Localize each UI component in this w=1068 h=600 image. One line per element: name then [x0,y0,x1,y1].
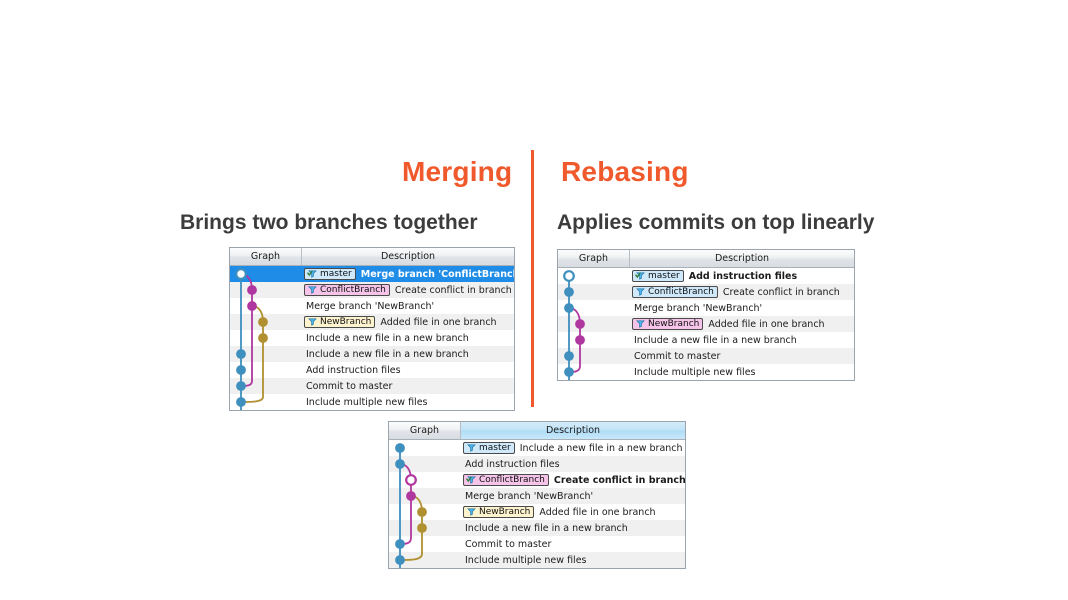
commit-message: Added file in one branch [378,317,496,328]
commit-row[interactable]: ConflictBranchCreate conflict in branch [230,282,514,298]
commit-description-cell: Include a new file in a new branch [302,330,514,346]
branch-icon [635,287,646,297]
commit-graph-cell [389,536,461,552]
commit-graph-cell [558,300,630,316]
commit-message: Create conflict in branch [552,475,685,486]
commit-message: Added file in one branch [706,319,824,330]
commit-graph-cell [558,268,630,284]
commit-graph-cell [389,440,461,456]
branch-checked-icon [466,475,477,485]
commit-message: Add instruction files [463,459,560,470]
column-header-graph[interactable]: Graph [558,250,630,267]
commit-message: Merge branch 'NewBranch' [304,301,434,312]
branch-label-master[interactable]: master [463,442,515,454]
commit-row[interactable]: Include a new file in a new branch [230,346,514,362]
merging-subtitle: Brings two branches together [180,211,478,235]
commit-row[interactable]: masterInclude a new file in a new branch [389,440,685,456]
branch-icon [635,319,646,329]
commit-row[interactable]: Commit to master [389,536,685,552]
table-header-row: Graph Description [230,248,514,266]
branch-label-text: master [648,272,680,281]
commit-row[interactable]: Include a new file in a new branch [230,330,514,346]
commit-row[interactable]: Merge branch 'NewBranch' [558,300,854,316]
rebasing-subtitle: Applies commits on top linearly [557,211,874,235]
commit-row[interactable]: ConflictBranchCreate conflict in branch [389,472,685,488]
commit-row[interactable]: Merge branch 'NewBranch' [230,298,514,314]
commit-message: Add instruction files [687,271,797,282]
merging-commit-table[interactable]: Graph Description masterMerge branch 'Co… [229,247,515,411]
commit-description-cell: Include a new file in a new branch [302,346,514,362]
branch-checked-icon [635,271,646,281]
commit-row[interactable]: NewBranchAdded file in one branch [230,314,514,330]
commit-message: Merge branch 'NewBranch' [632,303,762,314]
branch-label-text: NewBranch [320,318,371,327]
commit-row[interactable]: masterMerge branch 'ConflictBranch' [230,266,514,282]
merging-title: Merging [402,156,512,188]
table-body: masterAdd instruction filesConflictBranc… [558,268,854,380]
commit-row[interactable]: Include multiple new files [230,394,514,410]
branch-label-master[interactable]: master [632,270,684,282]
commit-message: Commit to master [463,539,551,550]
commit-message: Create conflict in branch [393,285,512,296]
commit-description-cell: NewBranchAdded file in one branch [630,316,854,332]
branch-label-conflictbranch[interactable]: ConflictBranch [463,474,549,486]
branch-icon [307,285,318,295]
commit-description-cell: masterInclude a new file in a new branch [461,440,685,456]
column-header-description[interactable]: Description [461,422,685,439]
commit-message: Include a new file in a new branch [518,443,683,454]
commit-graph-cell [230,346,302,362]
commit-graph-cell [230,330,302,346]
column-header-description[interactable]: Description [630,250,854,267]
commit-message: Added file in one branch [537,507,655,518]
commit-description-cell: Merge branch 'NewBranch' [302,298,514,314]
result-commit-table[interactable]: Graph Description masterInclude a new fi… [388,421,686,569]
commit-row[interactable]: Include multiple new files [389,552,685,568]
branch-label-conflictbranch[interactable]: ConflictBranch [304,284,390,296]
branch-label-master[interactable]: master [304,268,356,280]
commit-description-cell: Add instruction files [461,456,685,472]
commit-description-cell: Add instruction files [302,362,514,378]
commit-description-cell: Commit to master [302,378,514,394]
commit-message: Include multiple new files [304,397,428,408]
commit-row[interactable]: Include multiple new files [558,364,854,380]
table-body: masterMerge branch 'ConflictBranch'Confl… [230,266,514,410]
commit-row[interactable]: masterAdd instruction files [558,268,854,284]
commit-graph-cell [230,362,302,378]
commit-row[interactable]: Commit to master [558,348,854,364]
commit-message: Include multiple new files [463,555,587,566]
commit-message: Include a new file in a new branch [463,523,628,534]
commit-row[interactable]: NewBranchAdded file in one branch [558,316,854,332]
commit-graph-cell [389,488,461,504]
branch-label-text: NewBranch [479,508,530,517]
commit-description-cell: Commit to master [461,536,685,552]
commit-graph-cell [558,316,630,332]
commit-description-cell: Include a new file in a new branch [461,520,685,536]
branch-label-text: NewBranch [648,320,699,329]
commit-description-cell: ConflictBranchCreate conflict in branch [630,284,854,300]
commit-description-cell: Include multiple new files [302,394,514,410]
commit-graph-cell [389,504,461,520]
commit-graph-cell [230,282,302,298]
commit-graph-cell [558,364,630,380]
commit-description-cell: NewBranchAdded file in one branch [461,504,685,520]
commit-graph-cell [230,378,302,394]
commit-graph-cell [389,456,461,472]
commit-description-cell: Merge branch 'NewBranch' [461,488,685,504]
commit-message: Commit to master [632,351,720,362]
table-header-row: Graph Description [389,422,685,440]
commit-description-cell: Include a new file in a new branch [630,332,854,348]
commit-message: Merge branch 'NewBranch' [463,491,593,502]
commit-graph-cell [389,472,461,488]
commit-message: Commit to master [304,381,392,392]
commit-graph-cell [230,394,302,410]
commit-row[interactable]: Merge branch 'NewBranch' [389,488,685,504]
branch-label-text: ConflictBranch [320,286,386,295]
branch-label-conflictbranch[interactable]: ConflictBranch [632,286,718,298]
table-header-row: Graph Description [558,250,854,268]
branch-label-text: ConflictBranch [479,476,545,485]
branch-label-text: ConflictBranch [648,288,714,297]
commit-message: Include a new file in a new branch [632,335,797,346]
commit-graph-cell [558,284,630,300]
commit-description-cell: masterMerge branch 'ConflictBranch' [302,266,514,282]
commit-message: Add instruction files [304,365,401,376]
branch-icon [307,317,318,327]
commit-row[interactable]: ConflictBranchCreate conflict in branch [558,284,854,300]
commit-graph-cell [558,332,630,348]
commit-row[interactable]: Add instruction files [389,456,685,472]
slide-canvas: Merging Rebasing Brings two branches tog… [0,0,1068,600]
branch-label-newbranch[interactable]: NewBranch [463,506,534,518]
commit-graph-cell [389,552,461,568]
commit-row[interactable]: Include a new file in a new branch [389,520,685,536]
commit-graph-cell [230,298,302,314]
rebasing-commit-table[interactable]: Graph Description masterAdd instruction … [557,249,855,381]
commit-description-cell: masterAdd instruction files [630,268,854,284]
commit-row[interactable]: Commit to master [230,378,514,394]
commit-description-cell: ConflictBranchCreate conflict in branch [302,282,514,298]
table-body: masterInclude a new file in a new branch… [389,440,685,568]
branch-label-text: master [479,444,511,453]
commit-description-cell: Include multiple new files [461,552,685,568]
commit-description-cell: Include multiple new files [630,364,854,380]
commit-message: Include a new file in a new branch [304,349,469,360]
commit-row[interactable]: Include a new file in a new branch [558,332,854,348]
commit-row[interactable]: NewBranchAdded file in one branch [389,504,685,520]
branch-checked-icon [307,269,318,279]
commit-message: Include a new file in a new branch [304,333,469,344]
branch-icon [466,507,477,517]
commit-description-cell: Merge branch 'NewBranch' [630,300,854,316]
commit-description-cell: NewBranchAdded file in one branch [302,314,514,330]
column-header-description[interactable]: Description [302,248,514,265]
rebasing-title: Rebasing [561,156,689,188]
branch-label-text: master [320,270,352,279]
commit-row[interactable]: Add instruction files [230,362,514,378]
column-header-graph[interactable]: Graph [230,248,302,265]
commit-graph-cell [230,266,302,282]
commit-graph-cell [558,348,630,364]
commit-graph-cell [389,520,461,536]
column-header-graph[interactable]: Graph [389,422,461,439]
commit-description-cell: Commit to master [630,348,854,364]
commit-message: Create conflict in branch [721,287,840,298]
commit-graph-cell [230,314,302,330]
branch-icon [466,443,477,453]
commit-message: Include multiple new files [632,367,756,378]
vertical-divider [531,150,534,407]
commit-message: Merge branch 'ConflictBranch' [359,269,514,280]
branch-label-newbranch[interactable]: NewBranch [304,316,375,328]
branch-label-newbranch[interactable]: NewBranch [632,318,703,330]
commit-description-cell: ConflictBranchCreate conflict in branch [461,472,685,488]
